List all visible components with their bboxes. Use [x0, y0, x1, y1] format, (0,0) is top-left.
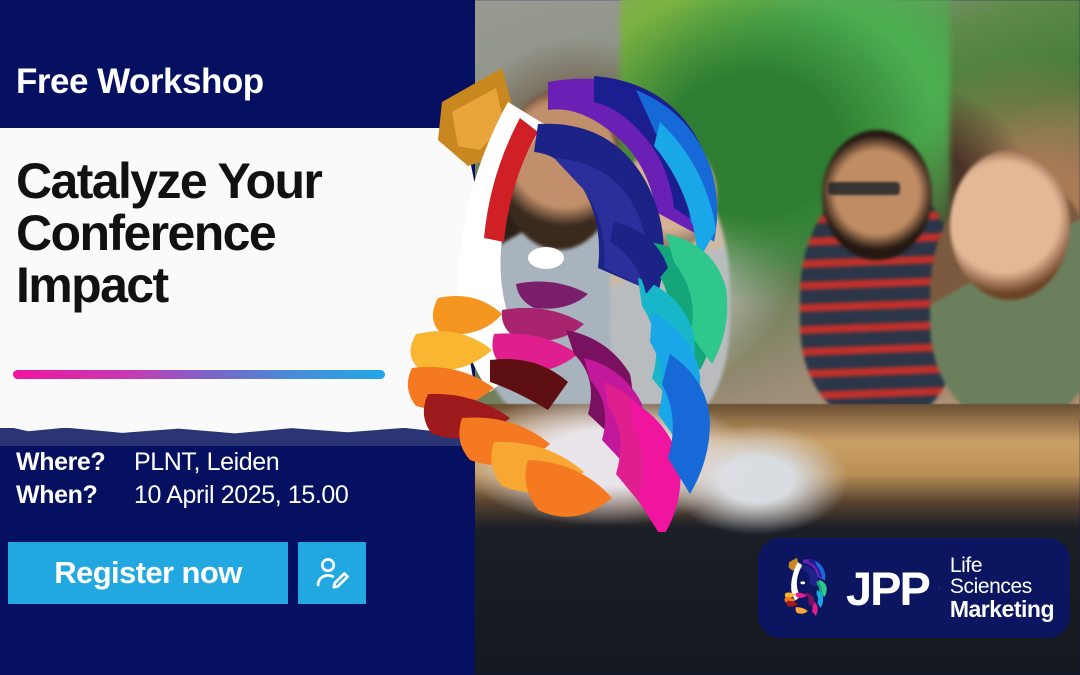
- event-details: Where? PLNT, Leiden When? 10 April 2025,…: [16, 448, 348, 514]
- detail-label-where: Where?: [16, 448, 134, 477]
- register-icon-button[interactable]: [298, 542, 366, 604]
- jpp-logo-badge: JPP Life Sciences Marketing: [758, 538, 1070, 638]
- gradient-divider: [13, 370, 385, 379]
- wolf-head-icon: [774, 557, 836, 619]
- logo-wordmark: JPP: [846, 561, 929, 616]
- detail-row-when: When? 10 April 2025, 15.00: [16, 481, 348, 510]
- wolf-head-icon: [398, 62, 728, 532]
- dna-helix-icon: [939, 563, 940, 613]
- register-now-button[interactable]: Register now: [8, 542, 288, 604]
- user-signup-icon: [313, 554, 351, 592]
- eyeglasses: [828, 182, 900, 195]
- cta-group: Register now: [8, 542, 366, 604]
- detail-row-where: Where? PLNT, Leiden: [16, 448, 348, 477]
- eyebrow-label: Free Workshop: [16, 62, 264, 102]
- detail-value-when: 10 April 2025, 15.00: [134, 481, 348, 510]
- logo-tagline-line1: Life Sciences: [950, 555, 1054, 598]
- logo-tagline-line2: Marketing: [950, 598, 1054, 621]
- page-title: Catalyze Your Conference Impact: [16, 155, 416, 311]
- attendee-4-head: [950, 150, 1070, 300]
- detail-label-when: When?: [16, 481, 134, 510]
- logo-tagline: Life Sciences Marketing: [950, 555, 1054, 621]
- poster-canvas: Free Workshop Catalyze Your Conference I…: [0, 0, 1080, 675]
- attendee-3-head: [822, 130, 932, 260]
- detail-value-where: PLNT, Leiden: [134, 448, 279, 477]
